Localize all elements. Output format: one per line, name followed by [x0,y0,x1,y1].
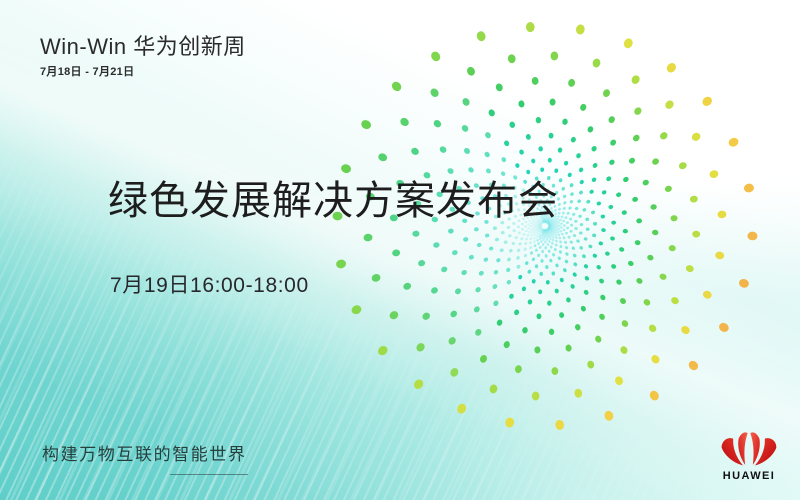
brand-dates: 7月18日 - 7月21日 [40,67,246,78]
banner-header: Win-Win 华为创新周 7月18日 - 7月21日 [40,36,246,78]
company-tagline: 构建万物互联的智能世界 [42,446,247,463]
tagline-underline [170,474,248,475]
brand-title: Win-Win 华为创新周 [40,36,246,58]
huawei-wordmark: HUAWEI [716,471,782,482]
event-time: 7月19日16:00-18:00 [110,275,309,296]
event-title: 绿色发展解决方案发布会 [108,179,559,224]
event-banner: Win-Win 华为创新周 7月18日 - 7月21日 绿色发展解决方案发布会 … [0,0,800,500]
huawei-flower-icon [716,431,782,467]
huawei-logo: HUAWEI [716,431,782,485]
